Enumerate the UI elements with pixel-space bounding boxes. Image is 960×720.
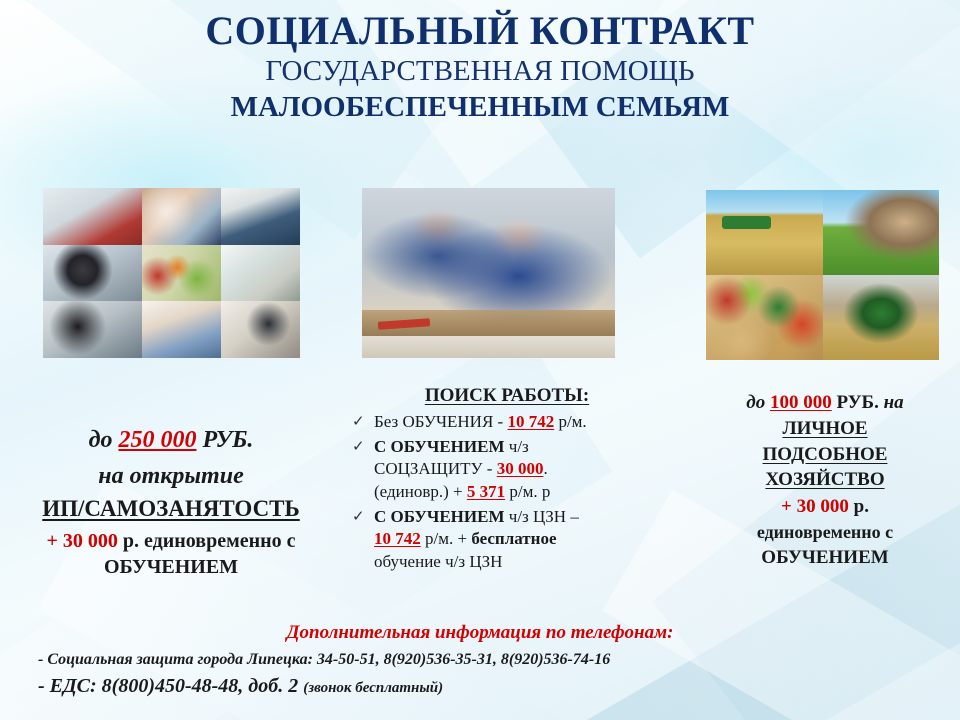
job-item-2-l3-pre: (единовр.) + xyxy=(374,482,467,501)
footer-contacts: Дополнительная информация по телефонам: … xyxy=(0,622,960,698)
business-training: ОБУЧЕНИЕМ xyxy=(6,554,336,580)
business-amount: 250 000 xyxy=(119,427,197,453)
business-bonus-tail: р. единовременно с xyxy=(123,530,296,552)
household-amount-line: до 100 000 РУБ. на xyxy=(690,390,960,416)
photo-cell-sewing-machine xyxy=(43,301,142,358)
job-search-item-3: ✓ С ОБУЧЕНИЕМ ч/з ЦЗН – xyxy=(352,506,662,529)
household-training: ОБУЧЕНИЕМ xyxy=(690,545,960,571)
household-bonus-tail: р. xyxy=(854,496,869,517)
photo-cell-wheat-field xyxy=(706,190,823,275)
photo-cell-cow xyxy=(823,190,940,275)
job-item-2-line-2: СОЦЗАЩИТУ - 30 000. xyxy=(374,458,662,481)
photo-cell-vegetables xyxy=(706,275,823,360)
job-item-2-l2-post: . xyxy=(543,459,547,478)
business-bonus-plus: + xyxy=(46,530,57,552)
photo-cell-photographer xyxy=(43,245,142,302)
household-unit: РУБ. xyxy=(836,392,878,413)
business-bonus-amount: 30 000 xyxy=(63,530,118,552)
title-line-3: МАЛООБЕСПЕЧЕННЫМ СЕМЬЯМ xyxy=(0,90,960,125)
photo-floor-strip xyxy=(362,336,615,358)
photo-cell-harvester xyxy=(823,275,940,360)
job-item-2-l3-post: р/м. р xyxy=(505,482,550,501)
household-word-3: ХОЗЯЙСТВО xyxy=(690,467,960,493)
business-category: ИП/САМОЗАНЯТОСТЬ xyxy=(6,494,336,524)
checkmark-icon: ✓ xyxy=(352,411,367,431)
household-suffix: на xyxy=(884,392,904,413)
benefit-block-business: до 250 000 РУБ. на открытие ИП/САМОЗАНЯТ… xyxy=(6,425,336,580)
business-purpose: на открытие xyxy=(6,461,336,493)
job-item-3-text: С ОБУЧЕНИЕМ ч/з ЦЗН – xyxy=(374,506,662,529)
job-item-3-tail: ч/з ЦЗН – xyxy=(505,507,579,526)
household-amount: 100 000 xyxy=(770,392,832,413)
photo-cell-drafting xyxy=(221,301,300,358)
job-item-2-line-3: (единовр.) + 5 371 р/м. р xyxy=(374,481,662,504)
photo-cell-tools xyxy=(43,188,142,245)
business-bonus-line: + 30 000 р. единовременно с xyxy=(6,528,336,554)
photo-cell-food-display xyxy=(142,245,221,302)
household-prefix: до xyxy=(746,392,765,413)
household-bonus-plus: + xyxy=(781,496,792,517)
household-bonus-amount: 30 000 xyxy=(797,496,849,517)
benefit-block-job-search: ПОИСК РАБОТЫ: ✓ Без ОБУЧЕНИЯ - 10 742 р/… xyxy=(352,383,662,574)
photo-cell-seamstress xyxy=(142,301,221,358)
poster-root: СОЦИАЛЬНЫЙ КОНТРАКТ ГОСУДАРСТВЕННАЯ ПОМО… xyxy=(0,0,960,720)
business-prefix: до xyxy=(89,427,113,453)
job-item-2-text: С ОБУЧЕНИЕМ ч/з xyxy=(374,436,662,459)
job-item-2-l2-pre: СОЦЗАЩИТУ - xyxy=(374,459,497,478)
job-item-1-text: Без ОБУЧЕНИЯ - 10 742 р/м. xyxy=(374,411,662,434)
household-word-2: ПОДСОБНОЕ xyxy=(690,442,960,468)
poster-title: СОЦИАЛЬНЫЙ КОНТРАКТ ГОСУДАРСТВЕННАЯ ПОМО… xyxy=(0,10,960,125)
job-item-3-line-3: обучение ч/з ЦЗН xyxy=(374,551,662,574)
job-item-3-amount: 10 742 xyxy=(374,529,421,548)
business-amount-line: до 250 000 РУБ. xyxy=(6,425,336,457)
job-item-2-tail: ч/з xyxy=(505,437,529,456)
job-item-3-bold: С ОБУЧЕНИЕМ xyxy=(374,507,505,526)
job-item-1-post: р/м. xyxy=(554,412,586,431)
job-item-3-mid: р/м. + xyxy=(421,529,472,548)
household-bonus-line: + 30 000 р. xyxy=(690,494,960,520)
job-item-2-l2-amount: 30 000 xyxy=(497,459,544,478)
job-item-1-amount: 10 742 xyxy=(507,412,554,431)
household-word-1: ЛИЧНОЕ xyxy=(690,416,960,442)
job-item-1-pre: Без ОБУЧЕНИЯ - xyxy=(374,412,507,431)
job-search-item-2: ✓ С ОБУЧЕНИЕМ ч/з xyxy=(352,436,662,459)
job-search-item-1: ✓ Без ОБУЧЕНИЯ - 10 742 р/м. xyxy=(352,411,662,434)
footer-heading: Дополнительная информация по телефонам: xyxy=(0,622,960,644)
checkmark-icon: ✓ xyxy=(352,436,367,456)
title-line-2: ГОСУДАРСТВЕННАЯ ПОМОЩЬ xyxy=(0,54,960,89)
footer-eds-main: - ЕДС: 8(800)450-48-48, доб. 2 xyxy=(38,675,298,697)
job-item-3-free: бесплатное xyxy=(471,529,556,548)
job-search-heading: ПОИСК РАБОТЫ: xyxy=(352,383,662,408)
footer-eds-line: - ЕДС: 8(800)450-48-48, доб. 2 (звонок б… xyxy=(0,675,960,698)
job-item-3-line-2: 10 742 р/м. + бесплатное xyxy=(374,528,662,551)
photo-cell-chef xyxy=(221,188,300,245)
collage-agriculture xyxy=(706,190,939,360)
household-once: единовременно с xyxy=(690,520,960,544)
footer-social-protection: - Социальная защита города Липецка: 34-5… xyxy=(0,651,960,669)
job-item-2-l3-amount: 5 371 xyxy=(467,482,505,501)
job-item-2-bold: С ОБУЧЕНИЕМ xyxy=(374,437,505,456)
checkmark-icon: ✓ xyxy=(352,506,367,526)
photo-cell-glassware xyxy=(221,245,300,302)
benefit-block-household: до 100 000 РУБ. на ЛИЧНОЕ ПОДСОБНОЕ ХОЗЯ… xyxy=(690,390,960,570)
photo-cell-crafting-hands xyxy=(142,188,221,245)
business-unit: РУБ. xyxy=(203,427,254,453)
title-line-1: СОЦИАЛЬНЫЙ КОНТРАКТ xyxy=(0,10,960,52)
collage-entrepreneurship xyxy=(43,188,300,358)
footer-eds-note: (звонок бесплатный) xyxy=(303,680,443,696)
photo-workshop-training xyxy=(362,188,615,358)
